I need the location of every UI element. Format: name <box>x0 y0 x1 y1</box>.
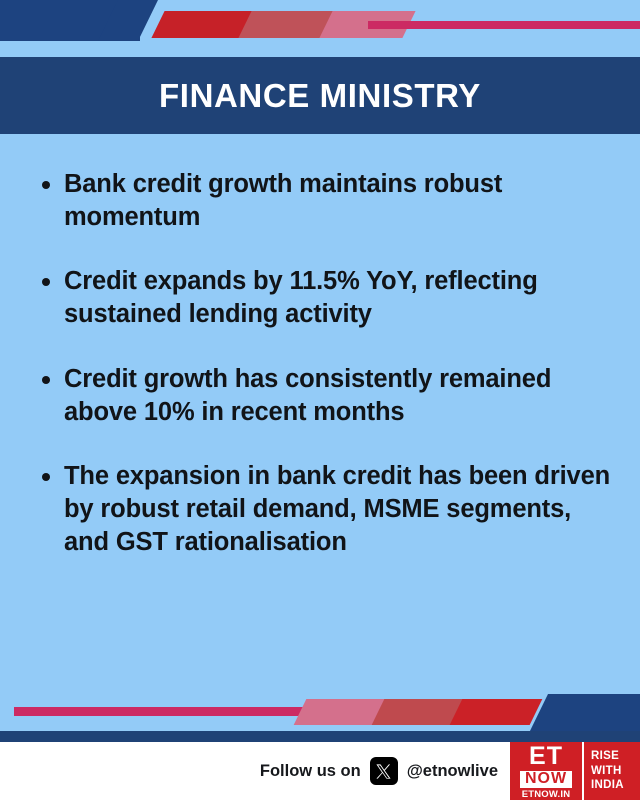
etnow-now-text: NOW <box>520 771 572 788</box>
social-handle[interactable]: @etnowlive <box>407 762 498 781</box>
etnow-logo-mark: ET NOW ETNOW.IN <box>510 742 582 800</box>
list-item: Credit expands by 11.5% YoY, reflecting … <box>24 265 616 331</box>
bullet-dot-icon <box>42 278 50 286</box>
news-card: FINANCE MINISTRY Bank credit growth main… <box>0 0 640 800</box>
content-area: Bank credit growth maintains robust mome… <box>0 134 640 694</box>
bottom-red-parallelogram <box>450 699 543 725</box>
list-item-text: The expansion in bank credit has been dr… <box>64 462 610 556</box>
etnow-url-text: ETNOW.IN <box>522 789 571 800</box>
bottom-decorative-band <box>0 694 640 742</box>
bullet-dot-icon <box>42 473 50 481</box>
bullet-dot-icon <box>42 181 50 189</box>
list-item: Bank credit growth maintains robust mome… <box>24 168 616 234</box>
list-item-text: Bank credit growth maintains robust mome… <box>64 170 502 231</box>
list-item-text: Credit growth has consistently remained … <box>64 365 551 426</box>
tagline-line-1: RISE <box>591 749 619 764</box>
bullet-dot-icon <box>42 376 50 384</box>
bullet-list: Bank credit growth maintains robust mome… <box>24 168 616 559</box>
follow-us-group: Follow us on @etnowlive <box>260 757 498 785</box>
footer: Follow us on @etnowlive ET NOW ETNOW.IN … <box>0 742 640 800</box>
x-twitter-icon[interactable] <box>370 757 398 785</box>
bottom-navy-block <box>566 694 640 731</box>
title-bar: FINANCE MINISTRY <box>0 57 640 134</box>
etnow-tagline: RISE WITH INDIA <box>582 742 640 800</box>
top-decorative-band <box>0 0 640 57</box>
tagline-line-3: INDIA <box>591 778 624 793</box>
list-item: Credit growth has consistently remained … <box>24 363 616 429</box>
etnow-logo[interactable]: ET NOW ETNOW.IN RISE WITH INDIA <box>510 742 640 800</box>
list-item: The expansion in bank credit has been dr… <box>24 460 616 559</box>
follow-us-label: Follow us on <box>260 762 361 781</box>
etnow-et-text: ET <box>529 745 563 769</box>
top-crimson-rule <box>368 21 640 29</box>
page-title: FINANCE MINISTRY <box>159 77 481 115</box>
top-red-parallelogram <box>151 11 253 38</box>
list-item-text: Credit expands by 11.5% YoY, reflecting … <box>64 267 538 328</box>
bottom-navy-strip <box>0 731 640 742</box>
tagline-line-2: WITH <box>591 764 622 779</box>
